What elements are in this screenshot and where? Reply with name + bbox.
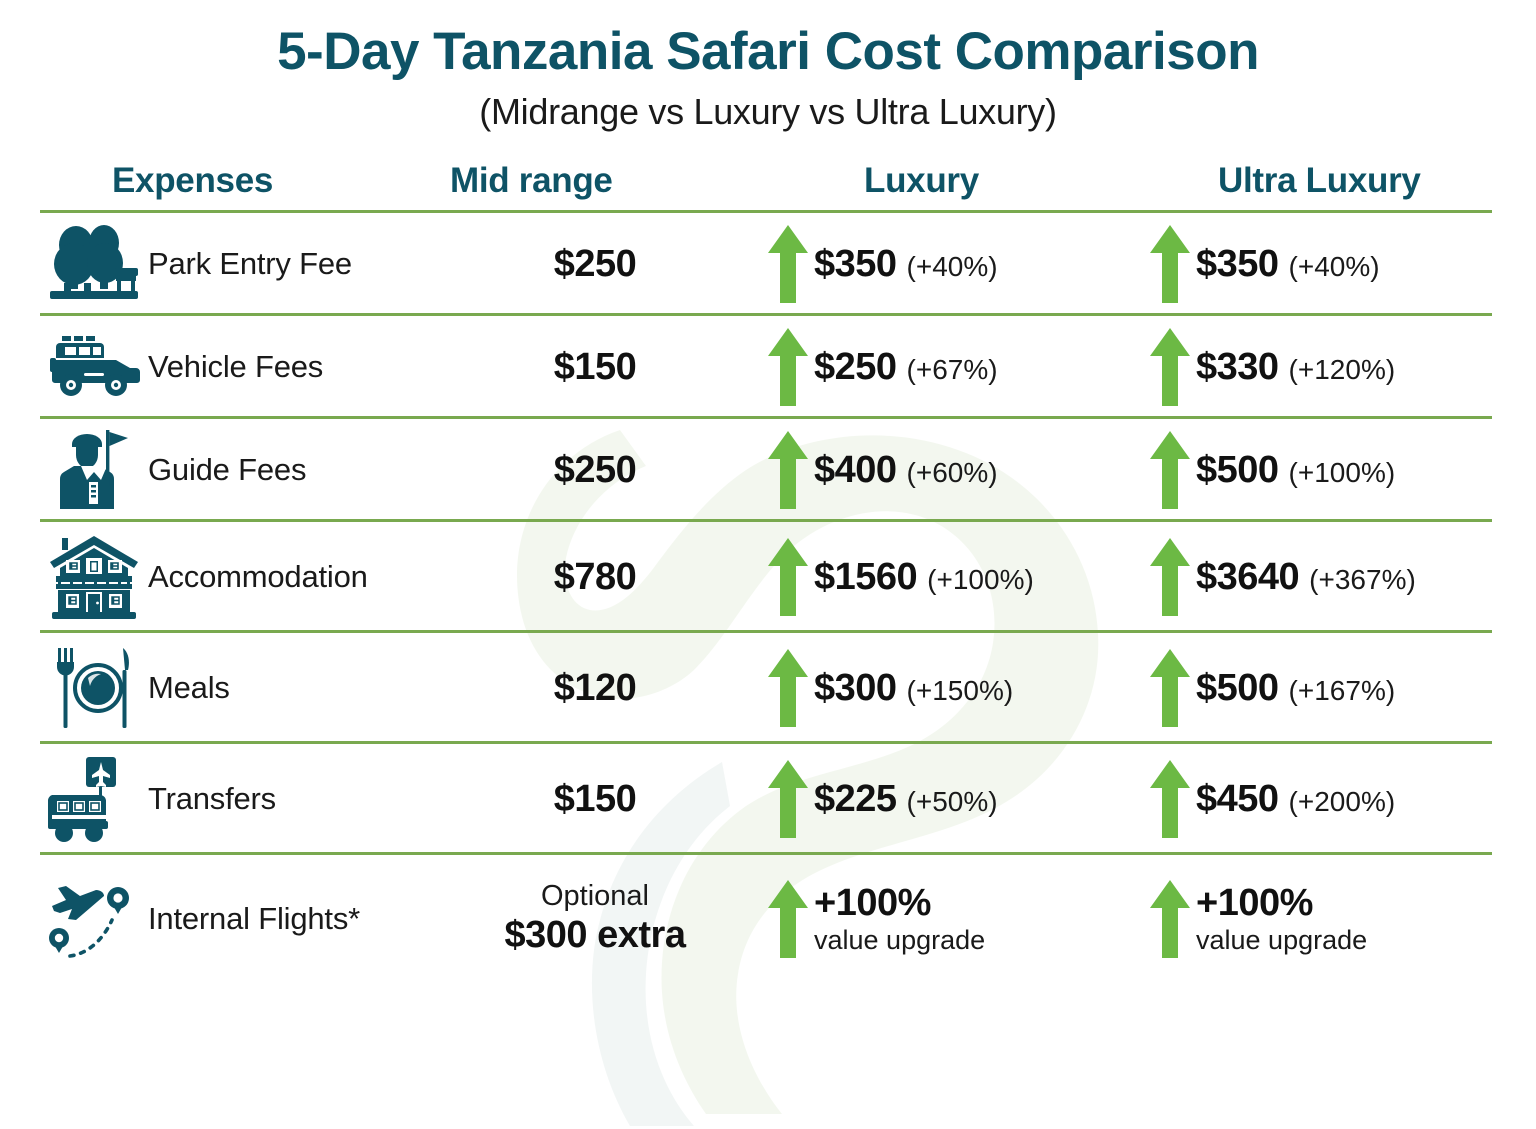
luxury-amount: $400 <box>814 449 897 492</box>
up-arrow-icon <box>1150 649 1196 727</box>
luxury-percent: (+60%) <box>907 457 998 489</box>
expense-label: Meals <box>148 670 230 706</box>
table-header-row: Expenses Mid range Luxury Ultra Luxury <box>0 155 1536 213</box>
column-header-expenses: Expenses <box>112 161 273 201</box>
table-row: Guide Fees $250 $400 (+60%) <box>0 419 1536 522</box>
page-subtitle: (Midrange vs Luxury vs Ultra Luxury) <box>0 91 1536 133</box>
up-arrow-icon <box>768 328 814 406</box>
luxury-amount: $225 <box>814 778 897 821</box>
luxury-percent: (+50%) <box>907 786 998 818</box>
lodge-house-icon <box>40 534 148 620</box>
up-arrow-icon <box>1150 760 1196 838</box>
title-block: 5-Day Tanzania Safari Cost Comparison (M… <box>0 0 1536 133</box>
midrange-amount: $120 <box>554 667 637 710</box>
up-arrow-icon <box>768 649 814 727</box>
column-header-luxury: Luxury <box>864 161 979 201</box>
midrange-amount: $300 extra <box>505 913 686 958</box>
ultra-percent: (+40%) <box>1289 251 1380 283</box>
midrange-amount: $250 <box>554 243 637 286</box>
table-row: Vehicle Fees $150 $250 (+67% <box>0 316 1536 419</box>
up-arrow-icon <box>768 431 814 509</box>
midrange-amount: $150 <box>554 778 637 821</box>
luxury-percent: (+40%) <box>907 251 998 283</box>
luxury-percent: (+150%) <box>907 675 1014 707</box>
table-row: Transfers $150 $225 (+50%) <box>0 744 1536 855</box>
midrange-amount: $150 <box>554 346 637 389</box>
airplane-route-pins-icon <box>40 876 148 962</box>
table-row: Park Entry Fee $250 $350 (+4 <box>0 213 1536 316</box>
up-arrow-icon <box>768 880 814 958</box>
midrange-note: Optional <box>541 879 649 913</box>
luxury-percent: (+100%) <box>927 564 1034 596</box>
comparison-table: Expenses Mid range Luxury Ultra Luxury <box>0 155 1536 983</box>
ultra-percent: (+367%) <box>1309 564 1416 596</box>
plate-fork-knife-icon <box>40 646 148 730</box>
page-title: 5-Day Tanzania Safari Cost Comparison <box>0 24 1536 80</box>
expense-label: Vehicle Fees <box>148 349 323 385</box>
ultra-amount: $500 <box>1196 449 1279 492</box>
ultra-amount: $500 <box>1196 667 1279 710</box>
table-row: Meals $120 $300 (+150%) <box>0 633 1536 744</box>
expense-label: Park Entry Fee <box>148 246 352 282</box>
up-arrow-icon <box>1150 431 1196 509</box>
expense-label: Internal Flights* <box>148 901 360 937</box>
table-row: Internal Flights* Optional $300 extra <box>0 855 1536 983</box>
ultra-percent: (+200%) <box>1289 786 1396 818</box>
up-arrow-icon <box>768 760 814 838</box>
column-header-midrange: Mid range <box>450 161 613 201</box>
ultra-percent: (+167%) <box>1289 675 1396 707</box>
luxury-amount: $300 <box>814 667 897 710</box>
ultra-amount: $3640 <box>1196 556 1299 599</box>
ultra-amount: +100% <box>1196 882 1367 925</box>
up-arrow-icon <box>1150 538 1196 616</box>
infographic-page: 5-Day Tanzania Safari Cost Comparison (M… <box>0 0 1536 1129</box>
trees-bench-icon <box>40 223 148 305</box>
expense-label: Guide Fees <box>148 452 306 488</box>
midrange-amount: $780 <box>554 556 637 599</box>
shuttle-bus-airplane-sign-icon <box>40 755 148 843</box>
luxury-amount: $250 <box>814 346 897 389</box>
luxury-amount: +100% <box>814 882 985 925</box>
ultra-percent: (+100%) <box>1289 457 1396 489</box>
expense-label: Accommodation <box>148 559 368 595</box>
guide-person-flag-icon <box>40 428 148 512</box>
luxury-amount: $350 <box>814 243 897 286</box>
ultra-amount: $330 <box>1196 346 1279 389</box>
expense-label: Transfers <box>148 781 276 817</box>
up-arrow-icon <box>768 538 814 616</box>
up-arrow-icon <box>1150 328 1196 406</box>
ultra-amount: $350 <box>1196 243 1279 286</box>
column-header-ultra-luxury: Ultra Luxury <box>1218 161 1421 201</box>
luxury-note: value upgrade <box>814 925 985 956</box>
up-arrow-icon <box>1150 225 1196 303</box>
midrange-amount: $250 <box>554 449 637 492</box>
ultra-percent: (+120%) <box>1289 354 1396 386</box>
luxury-amount: $1560 <box>814 556 917 599</box>
up-arrow-icon <box>768 225 814 303</box>
ultra-amount: $450 <box>1196 778 1279 821</box>
table-row: Accommodation $780 $1560 (+1 <box>0 522 1536 633</box>
ultra-note: value upgrade <box>1196 925 1367 956</box>
safari-jeep-icon <box>40 336 148 398</box>
luxury-percent: (+67%) <box>907 354 998 386</box>
up-arrow-icon <box>1150 880 1196 958</box>
